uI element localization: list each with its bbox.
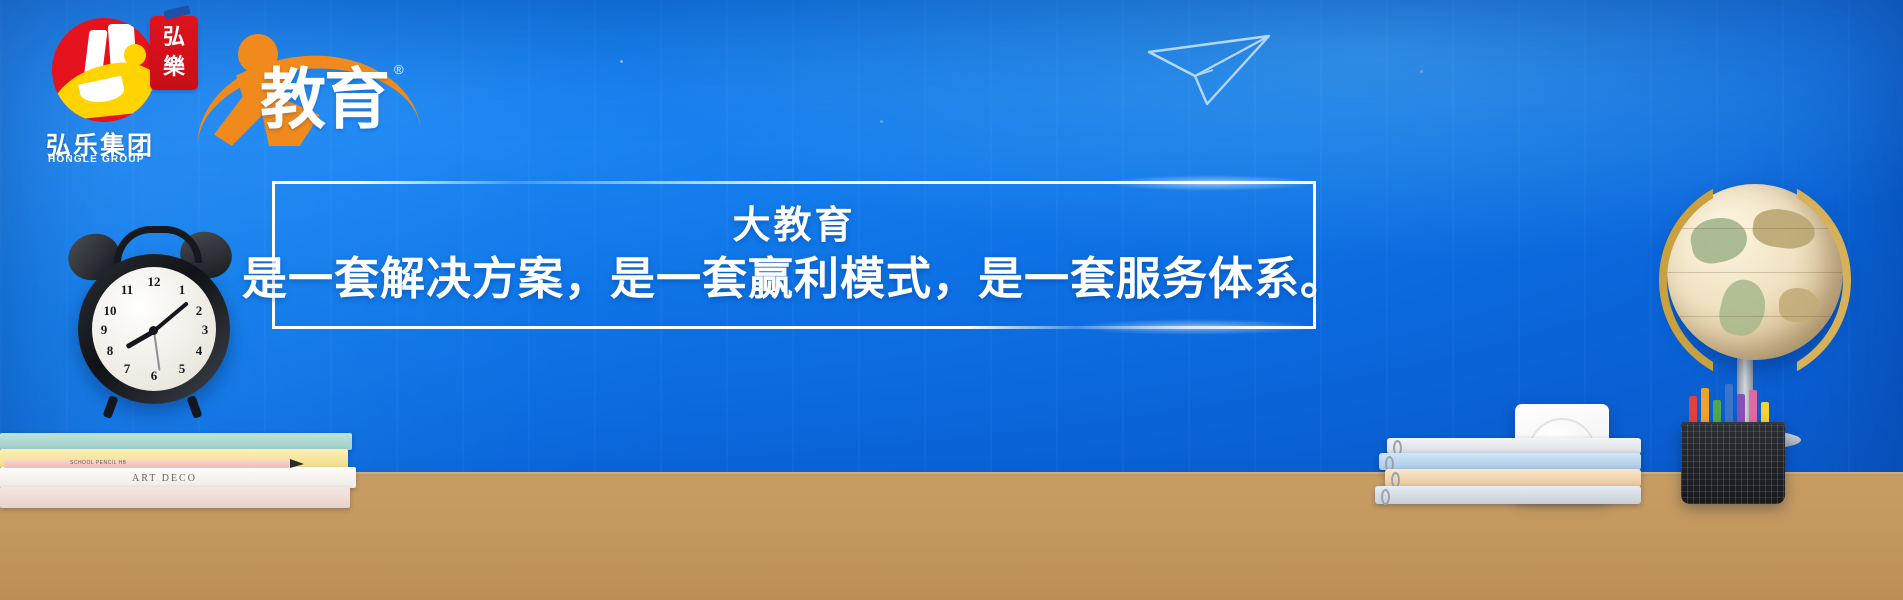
pencil <box>4 459 290 468</box>
clock-numeral: 2 <box>191 303 207 319</box>
clock-foot-right <box>187 395 203 419</box>
pencil-tip <box>290 459 304 468</box>
twin-bell-alarm-clock: 12 1 2 3 4 5 6 7 8 9 10 11 <box>62 228 262 418</box>
spiral-notebook-stack <box>1371 432 1641 504</box>
headline-block: 大教育 是一套解决方案，是一套赢利模式，是一套服务体系。 <box>272 181 1316 329</box>
education-banner: 弘乐集团 HONGLE GROUP 弘 樂 教育 ® 大教育 是一套解决方案，是… <box>0 0 1903 600</box>
notebook-layer <box>1379 453 1641 470</box>
brand-text-jiaoyu: 教育 <box>260 66 388 132</box>
clock-numeral: 3 <box>197 322 213 338</box>
sparkle-dot <box>880 120 883 123</box>
mesh-pencil-holder <box>1681 392 1785 504</box>
book-title-text: ART DECO <box>132 473 197 484</box>
clock-numeral: 8 <box>102 343 118 359</box>
clock-foot-left <box>103 395 119 419</box>
cup-mesh-texture <box>1681 424 1785 504</box>
cup-body <box>1681 424 1785 504</box>
book-layer <box>0 487 350 508</box>
notebook-layer <box>1385 469 1641 487</box>
da-jiaoyu-brand-logo[interactable]: 教育 ® <box>198 16 428 146</box>
clock-numeral: 1 <box>174 282 190 298</box>
book-stack-left: SCHOOL PENCIL HB ART DECO <box>0 422 360 508</box>
clock-numeral: 11 <box>119 282 135 298</box>
sparkle-dot <box>1420 70 1423 73</box>
notebook-layer <box>1387 438 1641 454</box>
pencil-label: SCHOOL PENCIL HB <box>70 460 127 466</box>
clock-numeral: 4 <box>191 343 207 359</box>
hongle-red-seal-icon: 弘 樂 <box>150 16 198 90</box>
headline-subtitle: 是一套解决方案，是一套赢利模式，是一套服务体系。 <box>242 253 1346 305</box>
clock-center-pin <box>149 326 158 335</box>
clock-body: 12 1 2 3 4 5 6 7 8 9 10 11 <box>78 254 230 404</box>
headline-title: 大教育 <box>732 205 855 249</box>
notebook-layer <box>1375 486 1641 504</box>
seal-char-bottom: 樂 <box>150 56 198 78</box>
sparkle-dot <box>620 60 623 63</box>
registered-mark: ® <box>394 62 404 77</box>
seal-char-top: 弘 <box>150 26 198 48</box>
clock-numeral: 7 <box>119 361 135 377</box>
clock-numeral: 10 <box>102 303 118 319</box>
company-name-en: HONGLE GROUP <box>48 154 145 165</box>
clock-minute-hand <box>153 301 189 332</box>
clock-face: 12 1 2 3 4 5 6 7 8 9 10 11 <box>92 267 216 391</box>
clock-second-hand <box>153 331 161 371</box>
clock-numeral: 9 <box>96 322 112 338</box>
book-layer <box>0 433 352 450</box>
paper-plane-icon <box>1145 30 1275 110</box>
clock-numeral: 12 <box>146 274 162 290</box>
clock-numeral: 5 <box>174 361 190 377</box>
